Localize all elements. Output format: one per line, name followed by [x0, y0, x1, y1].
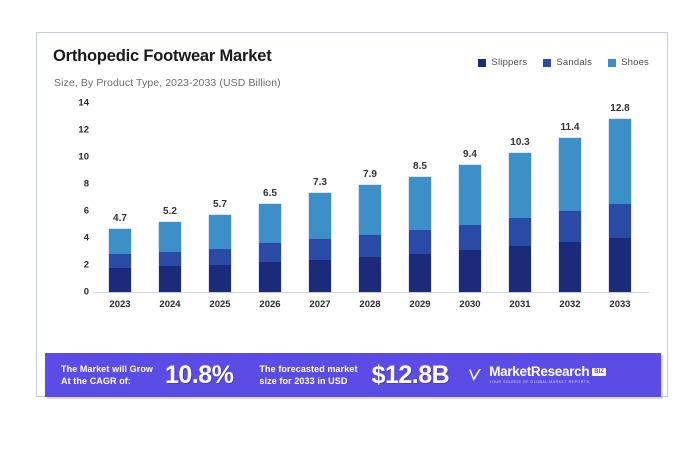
bar-segment-sandals: [259, 243, 281, 262]
bar-column[interactable]: 10.3: [502, 103, 538, 292]
bar-segment-shoes: [309, 193, 331, 239]
bar-segment-slippers: [159, 266, 181, 292]
bar-total-label: 7.9: [363, 169, 377, 180]
stacked-bar[interactable]: [409, 177, 431, 292]
forecast-size-label: The forecasted market size for 2033 in U…: [259, 363, 357, 387]
bar-column[interactable]: 7.9: [352, 103, 388, 292]
brand-logo: MarketResearch BIZ YOUR SOURCE OF GLOBAL…: [467, 365, 606, 384]
x-axis-tick: 2031: [502, 299, 538, 317]
bar-segment-shoes: [609, 119, 631, 204]
x-axis-line: [93, 292, 649, 293]
stacked-bar[interactable]: [259, 204, 281, 292]
checkmark-icon: [467, 367, 483, 383]
x-axis: 2023202420252026202720282029203020312032…: [95, 299, 645, 317]
bar-total-label: 10.3: [510, 137, 529, 148]
bar-segment-slippers: [259, 262, 281, 292]
x-axis-tick: 2026: [252, 299, 288, 317]
bar-column[interactable]: 9.4: [452, 103, 488, 292]
legend-swatch-icon: [543, 59, 551, 67]
x-axis-tick: 2033: [602, 299, 638, 317]
bar-segment-shoes: [209, 215, 231, 249]
bar-total-label: 7.3: [313, 177, 327, 188]
bar-column[interactable]: 5.2: [152, 103, 188, 292]
legend-item[interactable]: Sandals: [543, 57, 592, 68]
bar-column[interactable]: 8.5: [402, 103, 438, 292]
legend-label: Slippers: [491, 57, 527, 68]
legend-label: Sandals: [556, 57, 592, 68]
legend-item[interactable]: Slippers: [478, 57, 527, 68]
brand-text: MarketResearch BIZ YOUR SOURCE OF GLOBAL…: [489, 365, 606, 384]
stacked-bar[interactable]: [559, 138, 581, 292]
y-axis-tick: 0: [55, 287, 89, 298]
bar-segment-sandals: [609, 204, 631, 238]
bar-column[interactable]: 11.4: [552, 103, 588, 292]
bar-column[interactable]: 12.8: [602, 103, 638, 292]
bar-segment-sandals: [109, 254, 131, 267]
stacked-bar[interactable]: [309, 193, 331, 292]
legend-swatch-icon: [608, 59, 616, 67]
brand-badge: BIZ: [592, 368, 606, 376]
stacked-bar[interactable]: [459, 165, 481, 292]
y-axis-tick: 4: [55, 233, 89, 244]
x-axis-tick: 2024: [152, 299, 188, 317]
bar-segment-sandals: [209, 249, 231, 265]
bar-segment-shoes: [559, 138, 581, 211]
bar-column[interactable]: 7.3: [302, 103, 338, 292]
x-axis-tick: 2030: [452, 299, 488, 317]
brand-name-row: MarketResearch BIZ: [489, 365, 606, 379]
y-axis-tick: 12: [55, 125, 89, 136]
bar-segment-sandals: [159, 252, 181, 267]
stacked-bar[interactable]: [209, 215, 231, 292]
summary-banner: The Market will Grow At the CAGR of: 10.…: [45, 353, 661, 397]
bar-segment-slippers: [609, 238, 631, 292]
bar-segment-shoes: [409, 177, 431, 230]
page-title: Orthopedic Footwear Market: [53, 47, 272, 66]
legend-label: Shoes: [621, 57, 649, 68]
brand-name: MarketResearch: [489, 365, 589, 379]
bar-total-label: 8.5: [413, 161, 427, 172]
forecast-size-value: $12.8B: [372, 361, 450, 390]
stacked-bar[interactable]: [509, 153, 531, 292]
stacked-bar[interactable]: [609, 119, 631, 292]
x-axis-tick: 2025: [202, 299, 238, 317]
bar-segment-shoes: [259, 204, 281, 243]
bar-column[interactable]: 4.7: [102, 103, 138, 292]
legend-swatch-icon: [478, 59, 486, 67]
y-axis-tick: 14: [55, 98, 89, 109]
bar-total-label: 5.7: [213, 199, 227, 210]
stacked-bar[interactable]: [159, 222, 181, 292]
bar-segment-sandals: [459, 225, 481, 251]
brand-tagline: YOUR SOURCE OF GLOBAL MARKET REPORTS: [489, 381, 606, 385]
bar-total-label: 12.8: [610, 103, 629, 114]
bar-segment-slippers: [559, 242, 581, 292]
bar-column[interactable]: 6.5: [252, 103, 288, 292]
bar-segment-slippers: [359, 257, 381, 292]
bar-segment-slippers: [309, 260, 331, 292]
bar-segment-slippers: [459, 250, 481, 292]
bar-column[interactable]: 5.7: [202, 103, 238, 292]
bar-segment-sandals: [509, 218, 531, 246]
bar-segment-slippers: [109, 268, 131, 292]
chart-plot-area: 02468101214 4.75.25.76.57.37.98.59.410.3…: [55, 103, 651, 328]
cagr-label: The Market will Grow At the CAGR of:: [61, 363, 153, 387]
x-axis-tick: 2032: [552, 299, 588, 317]
y-axis-tick: 10: [55, 152, 89, 163]
chart-card: Orthopedic Footwear Market Size, By Prod…: [36, 32, 668, 397]
legend-item[interactable]: Shoes: [608, 57, 649, 68]
x-axis-tick: 2029: [402, 299, 438, 317]
bar-segment-shoes: [509, 153, 531, 218]
bar-segment-slippers: [509, 246, 531, 292]
bar-total-label: 11.4: [561, 122, 580, 133]
y-axis-tick: 8: [55, 179, 89, 190]
bar-total-label: 4.7: [113, 213, 127, 224]
chart-legend: SlippersSandalsShoes: [478, 57, 649, 68]
bar-group: 4.75.25.76.57.37.98.59.410.311.412.8: [95, 103, 645, 292]
bar-segment-shoes: [359, 185, 381, 235]
stacked-bar[interactable]: [109, 229, 131, 292]
cagr-value: 10.8%: [165, 361, 233, 390]
bar-segment-sandals: [559, 211, 581, 242]
y-axis-tick: 2: [55, 260, 89, 271]
bar-segment-shoes: [159, 222, 181, 252]
bar-total-label: 6.5: [263, 188, 277, 199]
bar-segment-shoes: [459, 165, 481, 224]
bar-segment-sandals: [309, 239, 331, 259]
bar-segment-sandals: [409, 230, 431, 254]
x-axis-tick: 2028: [352, 299, 388, 317]
x-axis-tick: 2023: [102, 299, 138, 317]
y-axis-tick: 6: [55, 206, 89, 217]
stacked-bar[interactable]: [359, 185, 381, 292]
bar-segment-sandals: [359, 235, 381, 257]
screenshot-root: Orthopedic Footwear Market Size, By Prod…: [0, 0, 700, 450]
bar-segment-slippers: [209, 265, 231, 292]
chart-subtitle: Size, By Product Type, 2023-2033 (USD Bi…: [54, 77, 281, 89]
bar-total-label: 5.2: [163, 206, 177, 217]
y-axis: 02468101214: [55, 103, 89, 292]
bar-segment-slippers: [409, 254, 431, 292]
x-axis-tick: 2027: [302, 299, 338, 317]
bar-total-label: 9.4: [463, 149, 477, 160]
bar-segment-shoes: [109, 229, 131, 255]
